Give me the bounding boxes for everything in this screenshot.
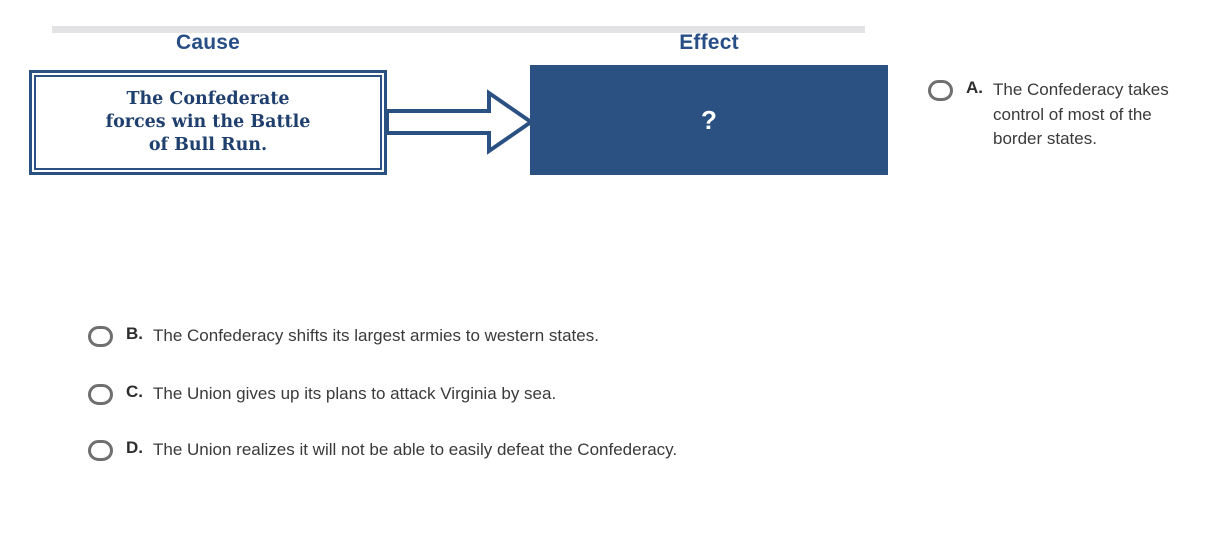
radio-button-d[interactable] <box>88 440 113 461</box>
radio-button-a[interactable] <box>928 80 953 101</box>
choice-text-b: The Confederacy shifts its largest armie… <box>153 324 599 349</box>
effect-column-label: Effect <box>629 31 789 55</box>
choice-option-b[interactable]: B. The Confederacy shifts its largest ar… <box>88 324 888 349</box>
choice-option-a[interactable]: A. The Confederacy takes control of most… <box>928 78 1208 152</box>
choice-letter-a: A. <box>966 78 983 98</box>
effect-box: ? <box>530 65 888 175</box>
block-arrow-right-icon <box>385 83 535 161</box>
radio-button-c[interactable] <box>88 384 113 405</box>
choice-letter-c: C. <box>126 382 143 402</box>
choice-text-a: The Confederacy takes control of most of… <box>993 78 1179 152</box>
choice-option-d[interactable]: D. The Union realizes it will not be abl… <box>88 438 888 463</box>
choice-text-d: The Union realizes it will not be able t… <box>153 438 793 463</box>
cause-box-text: The Confederate forces win the Battle of… <box>92 88 325 158</box>
choice-option-c[interactable]: C. The Union gives up its plans to attac… <box>88 382 888 407</box>
choice-letter-d: D. <box>126 438 143 458</box>
cause-column-label: Cause <box>128 31 288 55</box>
radio-button-b[interactable] <box>88 326 113 347</box>
effect-box-question-mark: ? <box>701 105 717 136</box>
cause-effect-diagram: Cause Effect The Confederate forces win … <box>0 0 900 200</box>
choice-text-c: The Union gives up its plans to attack V… <box>153 382 556 407</box>
choice-letter-b: B. <box>126 324 143 344</box>
cause-box: The Confederate forces win the Battle of… <box>29 70 387 175</box>
